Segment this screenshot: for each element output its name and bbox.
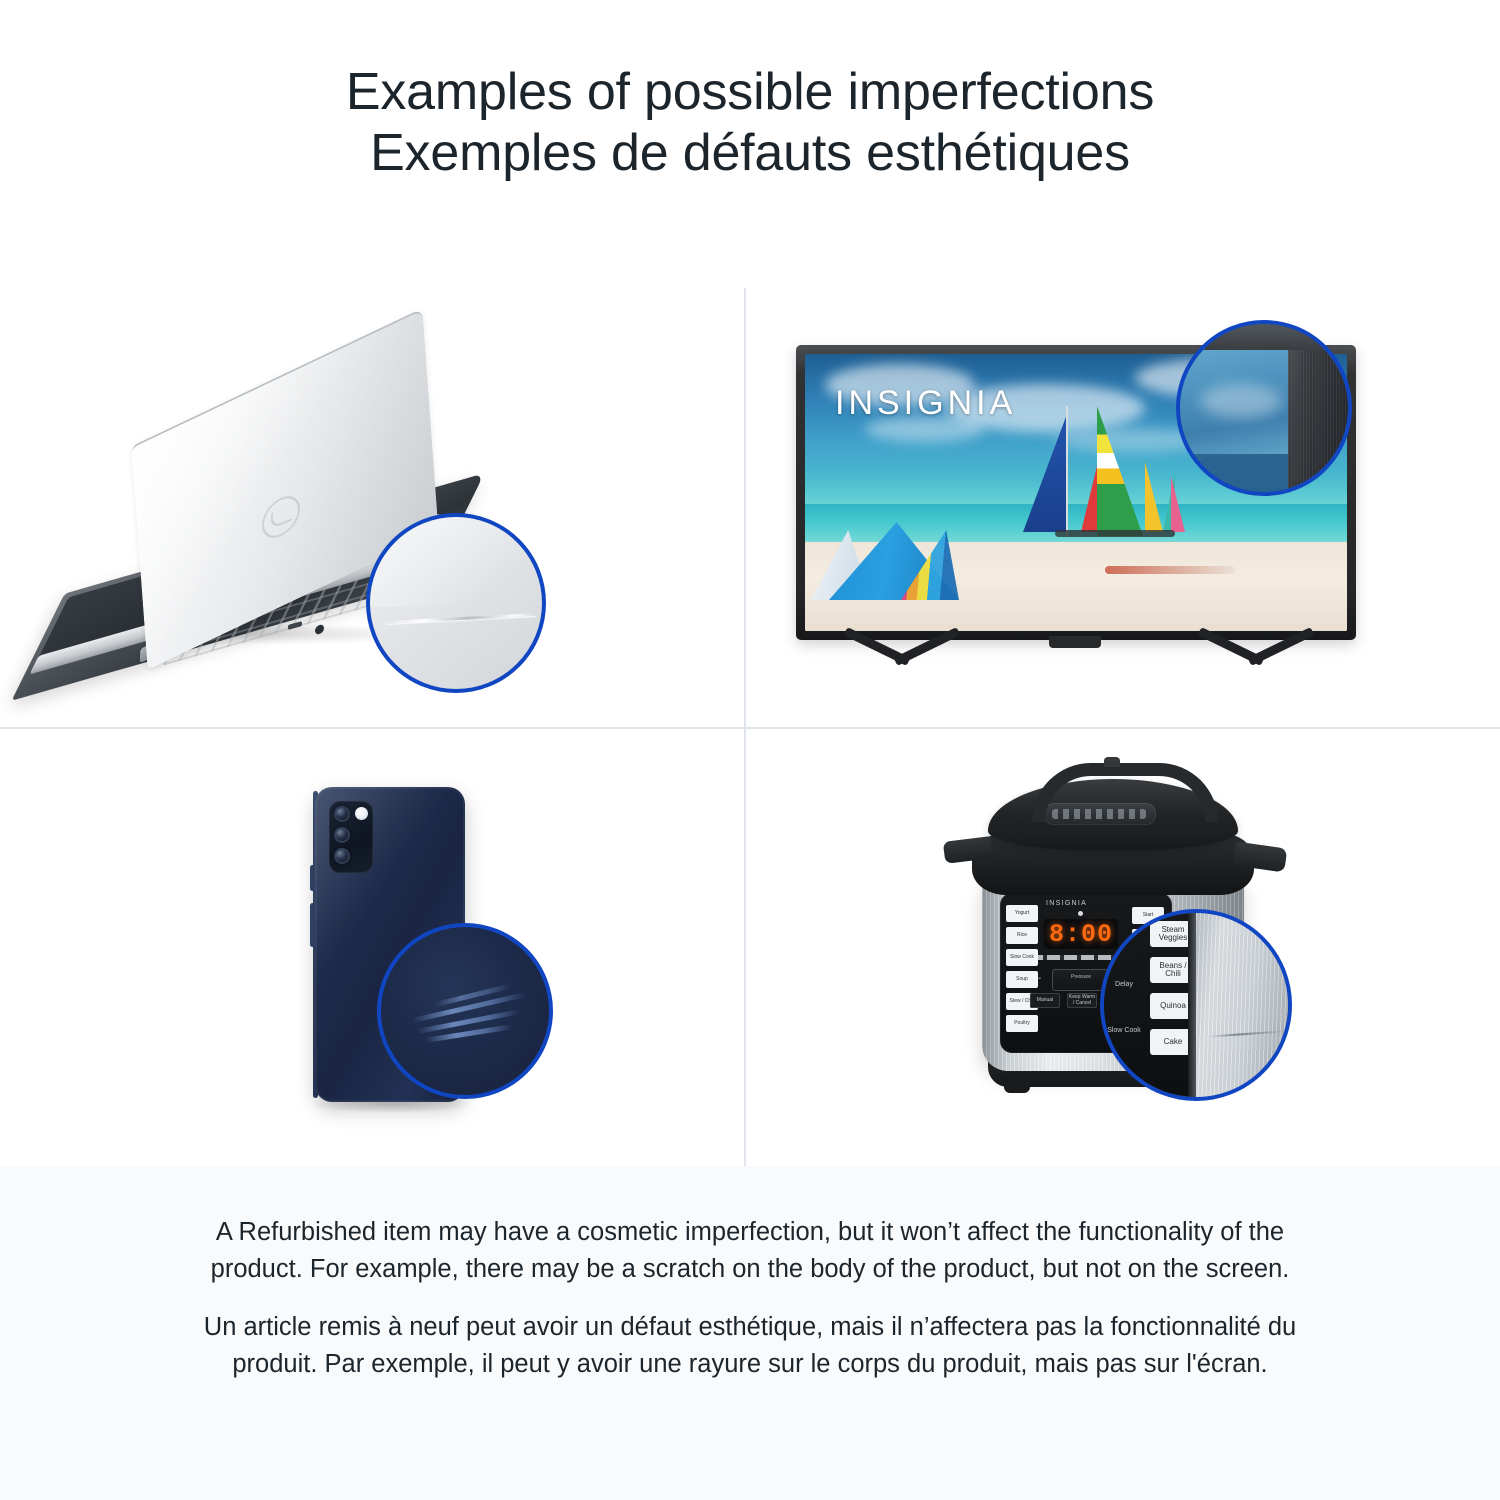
magnifier-tv-bezel-defect <box>1176 320 1352 496</box>
cell-laptop <box>0 288 744 727</box>
zoomed-cooker-button[interactable]: Slow Cook <box>1104 1021 1144 1039</box>
cooker-button[interactable]: Manual <box>1030 993 1060 1008</box>
camera-module <box>329 801 373 873</box>
cooker-left-button-column: Yogurt Rice Slow Cook Soup Stew / Chili … <box>1006 905 1038 1032</box>
cooker-button[interactable]: Rice <box>1006 927 1038 944</box>
camera-flash-icon <box>355 807 368 820</box>
cooker-button[interactable]: Soup <box>1006 971 1038 988</box>
magnifier-cooker-scratch: Delay Slow Cook Steam Veggies Beans / Ch… <box>1100 909 1292 1101</box>
laptop-illustration <box>30 373 560 663</box>
scratch-mark <box>386 613 536 624</box>
status-indicator-light <box>1078 911 1083 916</box>
tv-screen-logo: INSIGNIA <box>835 384 1016 423</box>
magnifier-laptop-scratch <box>366 513 546 693</box>
zoomed-cloud <box>1200 384 1282 418</box>
footer-description: A Refurbished item may have a cosmetic i… <box>0 1166 1500 1500</box>
boat-hull <box>1105 566 1235 574</box>
product-examples-grid: INSIGNIA <box>0 288 1500 1166</box>
zoomed-steel-texture <box>1196 913 1292 1101</box>
camera-lens-icon <box>334 806 350 822</box>
header: Examples of possible imperfections Exemp… <box>0 0 1500 258</box>
refurbished-imperfections-infographic: Examples of possible imperfections Exemp… <box>0 0 1500 1500</box>
pressure-cooker-illustration: INSIGNIA 8:00 − + Pressure Yogurt Rice S… <box>936 757 1316 1137</box>
cooker-foot <box>1004 1083 1030 1093</box>
sail-red <box>1081 466 1097 532</box>
cooker-brand-label: INSIGNIA <box>1046 900 1087 907</box>
cooker-pressure-valve-icon <box>1104 757 1120 767</box>
cell-smartphone <box>0 729 744 1168</box>
mast <box>1066 406 1068 536</box>
magnifier-sheen <box>366 513 546 607</box>
page-title-en: Examples of possible imperfections <box>346 62 1154 123</box>
description-en: A Refurbished item may have a cosmetic i… <box>190 1214 1310 1287</box>
zoomed-bezel-top <box>1180 324 1352 350</box>
cell-pressure-cooker: INSIGNIA 8:00 − + Pressure Yogurt Rice S… <box>746 729 1490 1168</box>
camera-lens-icon <box>334 827 350 843</box>
television-illustration: INSIGNIA <box>776 320 1446 700</box>
tv-center-nub <box>1049 636 1101 648</box>
cell-television: INSIGNIA <box>746 288 1490 727</box>
magnifier-phone-scratches <box>377 923 553 1099</box>
boat-hull <box>1055 530 1175 537</box>
cooker-button[interactable]: Yogurt <box>1006 905 1038 922</box>
zoomed-cooker-button[interactable]: Delay <box>1104 975 1144 993</box>
smartphone-illustration <box>255 777 575 1127</box>
description-fr: Un article remis à neuf peut avoir un dé… <box>190 1309 1310 1382</box>
cooker-lid-handle <box>1032 763 1218 822</box>
cooker-button[interactable]: Keep Warm / Cancel <box>1067 993 1097 1008</box>
cooker-button[interactable]: Poultry <box>1006 1015 1038 1032</box>
tv-stand <box>796 638 1356 686</box>
cooker-button[interactable]: Slow Cook <box>1006 949 1038 966</box>
camera-lens-icon <box>334 848 350 864</box>
page-title-fr: Exemples de défauts esthétiques <box>370 123 1130 184</box>
